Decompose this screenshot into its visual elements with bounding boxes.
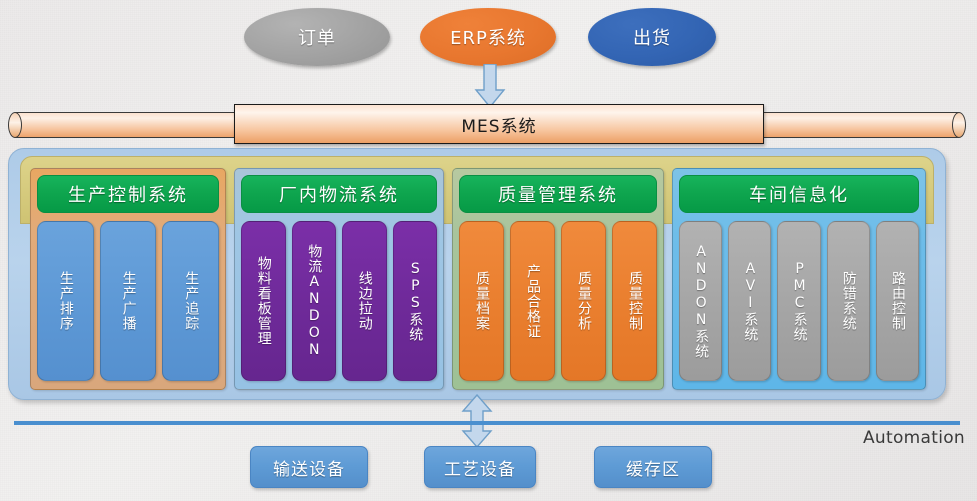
group-quality-management-cards: 质量档案 产品合格证 质量分析 质量控制 (459, 221, 657, 381)
card-line-side-pull[interactable]: 线边拉动 (342, 221, 387, 381)
mes-banner: MES系统 (6, 104, 968, 144)
down-arrow-icon (470, 64, 510, 108)
card-routing-control[interactable]: 路由控制 (876, 221, 919, 381)
card-error-proofing-system[interactable]: 防错系统 (827, 221, 870, 381)
group-workshop-informatization: 车间信息化 ANDON系统 AVI系统 PMC系统 防错系统 路由控制 (672, 168, 926, 390)
group-inplant-logistics-title: 厂内物流系统 (241, 175, 437, 213)
automation-label: Automation (863, 428, 965, 448)
card-production-broadcast[interactable]: 生产广播 (100, 221, 157, 381)
card-production-tracking[interactable]: 生产追踪 (162, 221, 219, 381)
equipment-process-label: 工艺设备 (444, 455, 516, 480)
card-material-kanban[interactable]: 物料看板管理 (241, 221, 286, 381)
card-pmc-system[interactable]: PMC系统 (777, 221, 820, 381)
group-production-control-cards: 生产排序 生产广播 生产追踪 (37, 221, 219, 381)
card-product-certificate[interactable]: 产品合格证 (510, 221, 555, 381)
card-sps-system[interactable]: SPS系统 (393, 221, 438, 381)
equipment-conveyor-label: 输送设备 (273, 455, 345, 480)
mes-title-block: MES系统 (234, 104, 764, 144)
equipment-buffer-label: 缓存区 (626, 455, 680, 480)
equipment-process[interactable]: 工艺设备 (424, 446, 536, 488)
group-workshop-informatization-title: 车间信息化 (679, 175, 919, 213)
mes-tube-cap-left (8, 112, 22, 138)
group-quality-management-title: 质量管理系统 (459, 175, 657, 213)
card-andon-system[interactable]: ANDON系统 (679, 221, 722, 381)
equipment-conveyor[interactable]: 输送设备 (250, 446, 368, 488)
mes-tube-cap-right (952, 112, 966, 138)
mes-title: MES系统 (461, 112, 536, 137)
card-logistics-andon[interactable]: 物流ANDON (292, 221, 337, 381)
node-erp: ERP系统 (420, 8, 556, 66)
card-quality-archive[interactable]: 质量档案 (459, 221, 504, 381)
node-shipping-label: 出货 (633, 24, 671, 50)
automation-divider (14, 421, 960, 425)
group-production-control-title: 生产控制系统 (37, 175, 219, 213)
equipment-buffer[interactable]: 缓存区 (594, 446, 712, 488)
group-production-control: 生产控制系统 生产排序 生产广播 生产追踪 (30, 168, 226, 390)
card-production-scheduling[interactable]: 生产排序 (37, 221, 94, 381)
node-order-label: 订单 (298, 24, 336, 50)
node-shipping: 出货 (588, 8, 716, 66)
card-quality-analysis[interactable]: 质量分析 (561, 221, 606, 381)
group-inplant-logistics: 厂内物流系统 物料看板管理 物流ANDON 线边拉动 SPS系统 (234, 168, 444, 390)
group-quality-management: 质量管理系统 质量档案 产品合格证 质量分析 质量控制 (452, 168, 664, 390)
node-order: 订单 (244, 8, 390, 66)
card-avi-system[interactable]: AVI系统 (728, 221, 771, 381)
group-workshop-informatization-cards: ANDON系统 AVI系统 PMC系统 防错系统 路由控制 (679, 221, 919, 381)
card-quality-control[interactable]: 质量控制 (612, 221, 657, 381)
node-erp-label: ERP系统 (450, 24, 526, 50)
group-inplant-logistics-cards: 物料看板管理 物流ANDON 线边拉动 SPS系统 (241, 221, 437, 381)
